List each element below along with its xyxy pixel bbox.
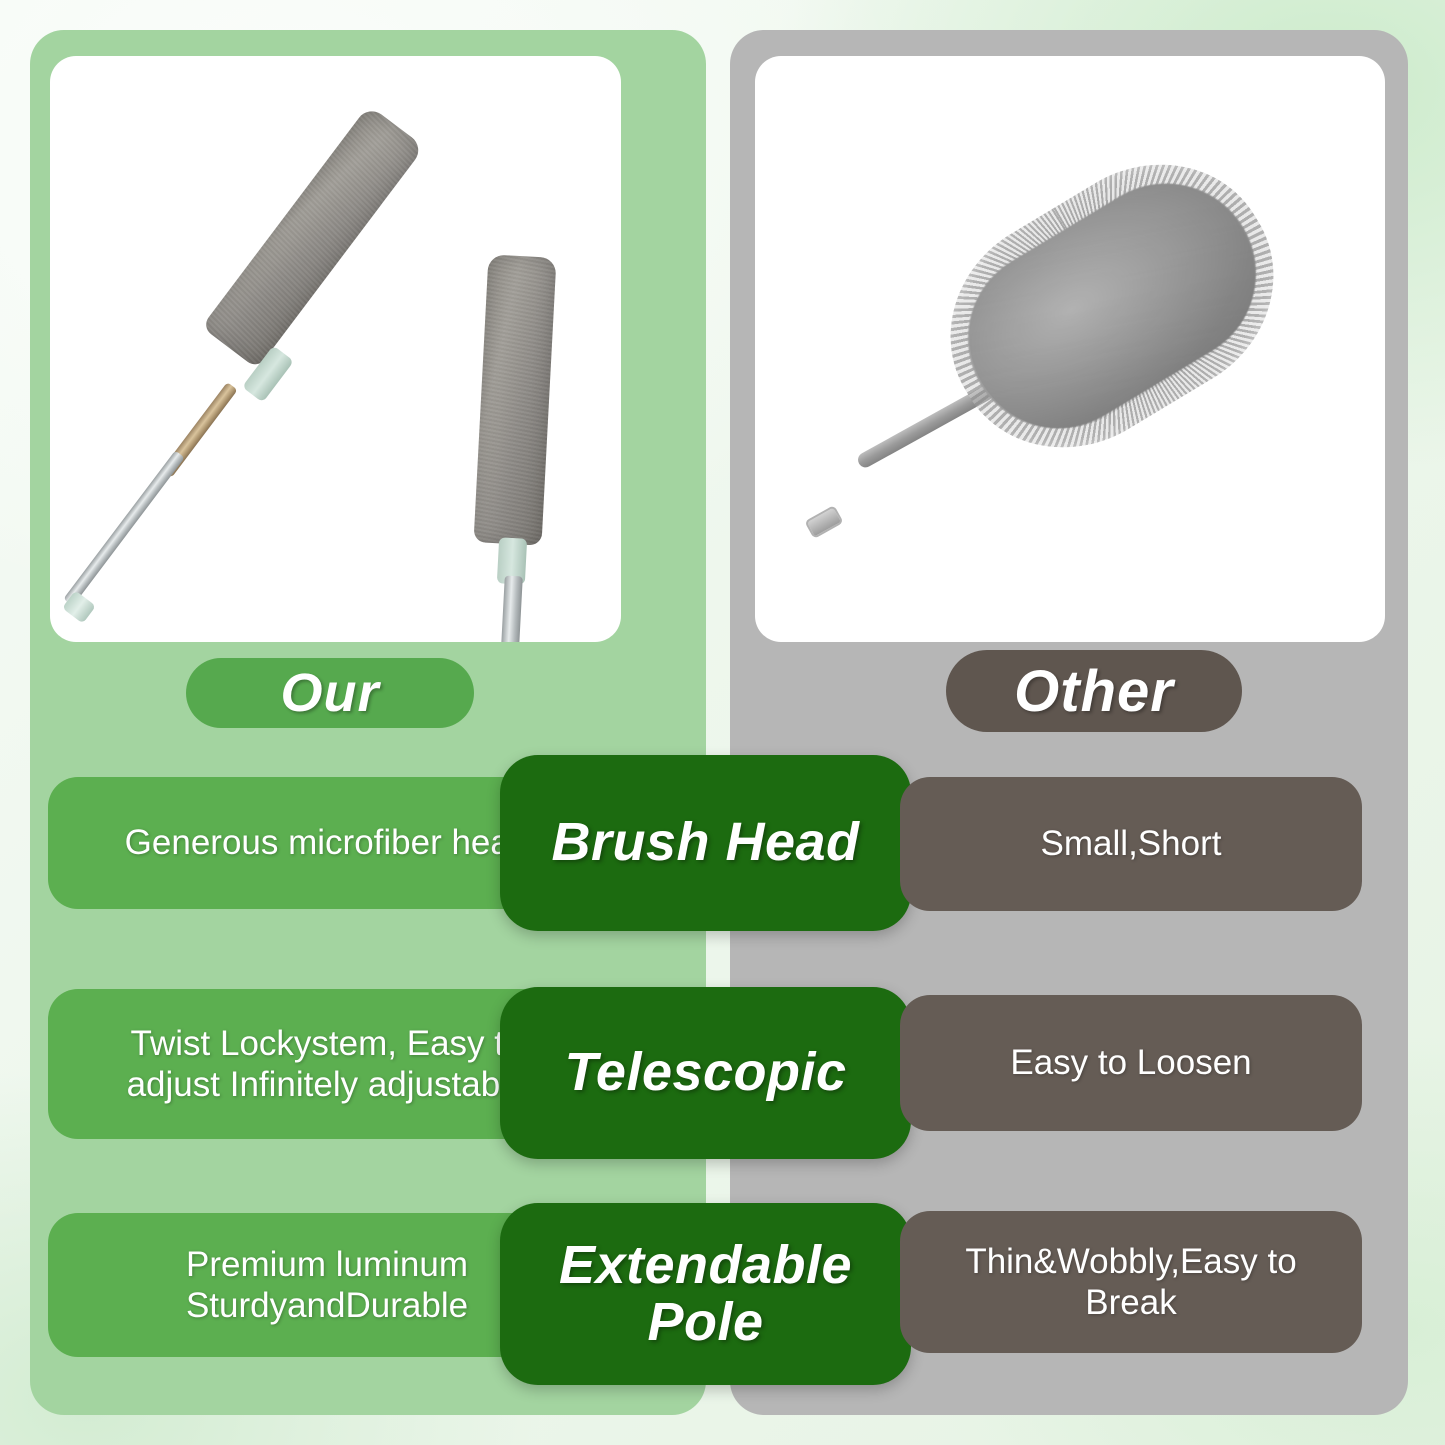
other-feature-text: Easy to Loosen (1010, 1042, 1251, 1083)
comparison-row: Generous microfiber head Brush Head Smal… (0, 755, 1445, 935)
other-product-photo-card (755, 56, 1385, 642)
other-heading-pill: Other (946, 650, 1242, 732)
our-heading-label: Our (280, 662, 379, 724)
other-feature-text: Thin&Wobbly,Easy to Break (930, 1241, 1332, 1324)
feather-duster-ferrule (804, 505, 843, 539)
our-heading-pill: Our (186, 658, 474, 728)
gap-duster-pad-long (201, 105, 424, 369)
gap-duster-rod-steel (63, 450, 185, 606)
gap-duster-pad-short (474, 254, 557, 545)
our-feature-text: Twist Lockystem, Easy to adjust Infinite… (82, 1023, 572, 1106)
feature-badge-label: Telescopic (564, 1044, 846, 1101)
comparison-row: Twist Lockystem, Easy to adjust Infinite… (0, 975, 1445, 1171)
our-product-photo-card (50, 56, 621, 642)
our-feature-text: Generous microfiber head (125, 822, 530, 863)
feature-badge: Extendable Pole (500, 1203, 911, 1385)
comparison-row: Premium luminum SturdyandDurable Extenda… (0, 1195, 1445, 1391)
other-feature-value: Thin&Wobbly,Easy to Break (900, 1211, 1362, 1353)
our-feature-text: Premium luminum SturdyandDurable (82, 1244, 572, 1327)
other-feature-value: Small,Short (900, 777, 1362, 911)
gap-duster-rod-short (501, 576, 523, 642)
other-feature-value: Easy to Loosen (900, 995, 1362, 1131)
other-heading-label: Other (1014, 658, 1174, 725)
comparison-infographic: Our Other Generous microfiber head Brush… (0, 0, 1445, 1445)
other-feature-text: Small,Short (1041, 823, 1222, 864)
feature-badge-label: Extendable Pole (500, 1237, 911, 1351)
feature-badge: Brush Head (500, 755, 911, 931)
feather-duster-illustration (755, 56, 1385, 642)
feature-badge: Telescopic (500, 987, 911, 1159)
feature-badge-label: Brush Head (551, 814, 859, 871)
feather-duster-head (924, 138, 1300, 473)
